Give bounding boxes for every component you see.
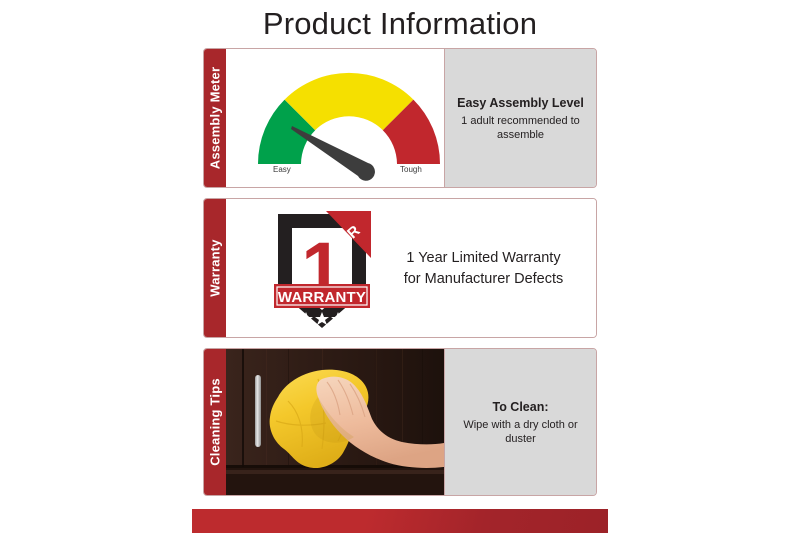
warranty-graphic-area: YR 1 WARRANTY 1 Year Limited Warranty fo…: [226, 199, 596, 337]
cleaning-panel-subtext: Wipe with a dry cloth or duster: [453, 418, 588, 446]
cleaning-photo-svg: [226, 349, 444, 495]
side-band-label: Assembly Meter: [208, 67, 223, 170]
cleaning-info-panel: To Clean: Wipe with a dry cloth or duste…: [444, 349, 596, 495]
gauge-label-min: Easy: [273, 165, 291, 174]
bottom-accent-bar: [192, 509, 608, 533]
photo-cabinet-seam: [242, 349, 244, 467]
warranty-description: 1 Year Limited Warranty for Manufacturer…: [376, 199, 591, 337]
card-cleaning-tips: Cleaning Tips: [203, 348, 597, 496]
side-band-cleaning-tips: Cleaning Tips: [204, 349, 226, 495]
card-assembly-meter: Assembly Meter Easy Tough Easy Assembly …: [203, 48, 597, 188]
page-title: Product Information: [0, 5, 800, 43]
cleaning-panel-heading: To Clean:: [492, 399, 548, 415]
photo-shelf-highlight: [226, 470, 444, 474]
gauge: Easy Tough: [244, 59, 444, 181]
side-band-assembly-meter: Assembly Meter: [204, 49, 226, 187]
gauge-svg: [244, 59, 444, 181]
side-band-warranty: Warranty: [204, 199, 226, 337]
warranty-badge-svg: YR 1 WARRANTY: [270, 206, 374, 332]
warranty-badge: YR 1 WARRANTY: [270, 206, 374, 332]
warranty-text-line2: for Manufacturer Defects: [404, 269, 564, 290]
card-warranty: Warranty YR 1 WARRANTY: [203, 198, 597, 338]
warranty-text-line1: 1 Year Limited Warranty: [404, 248, 564, 269]
assembly-panel-heading: Easy Assembly Level: [457, 95, 584, 111]
gauge-needle: [291, 126, 375, 181]
photo-cabinet-handle: [255, 375, 261, 447]
assembly-meter-graphic-area: Easy Tough: [226, 49, 444, 187]
cleaning-photo: [226, 349, 444, 495]
assembly-info-panel: Easy Assembly Level 1 adult recommended …: [444, 49, 596, 187]
assembly-panel-subtext: 1 adult recommended to assemble: [453, 114, 588, 142]
cleaning-photo-area: [226, 349, 444, 495]
side-band-label: Cleaning Tips: [208, 378, 223, 466]
gauge-label-max: Tough: [400, 165, 422, 174]
side-band-label: Warranty: [208, 239, 223, 296]
badge-banner-label: WARRANTY: [278, 289, 366, 306]
